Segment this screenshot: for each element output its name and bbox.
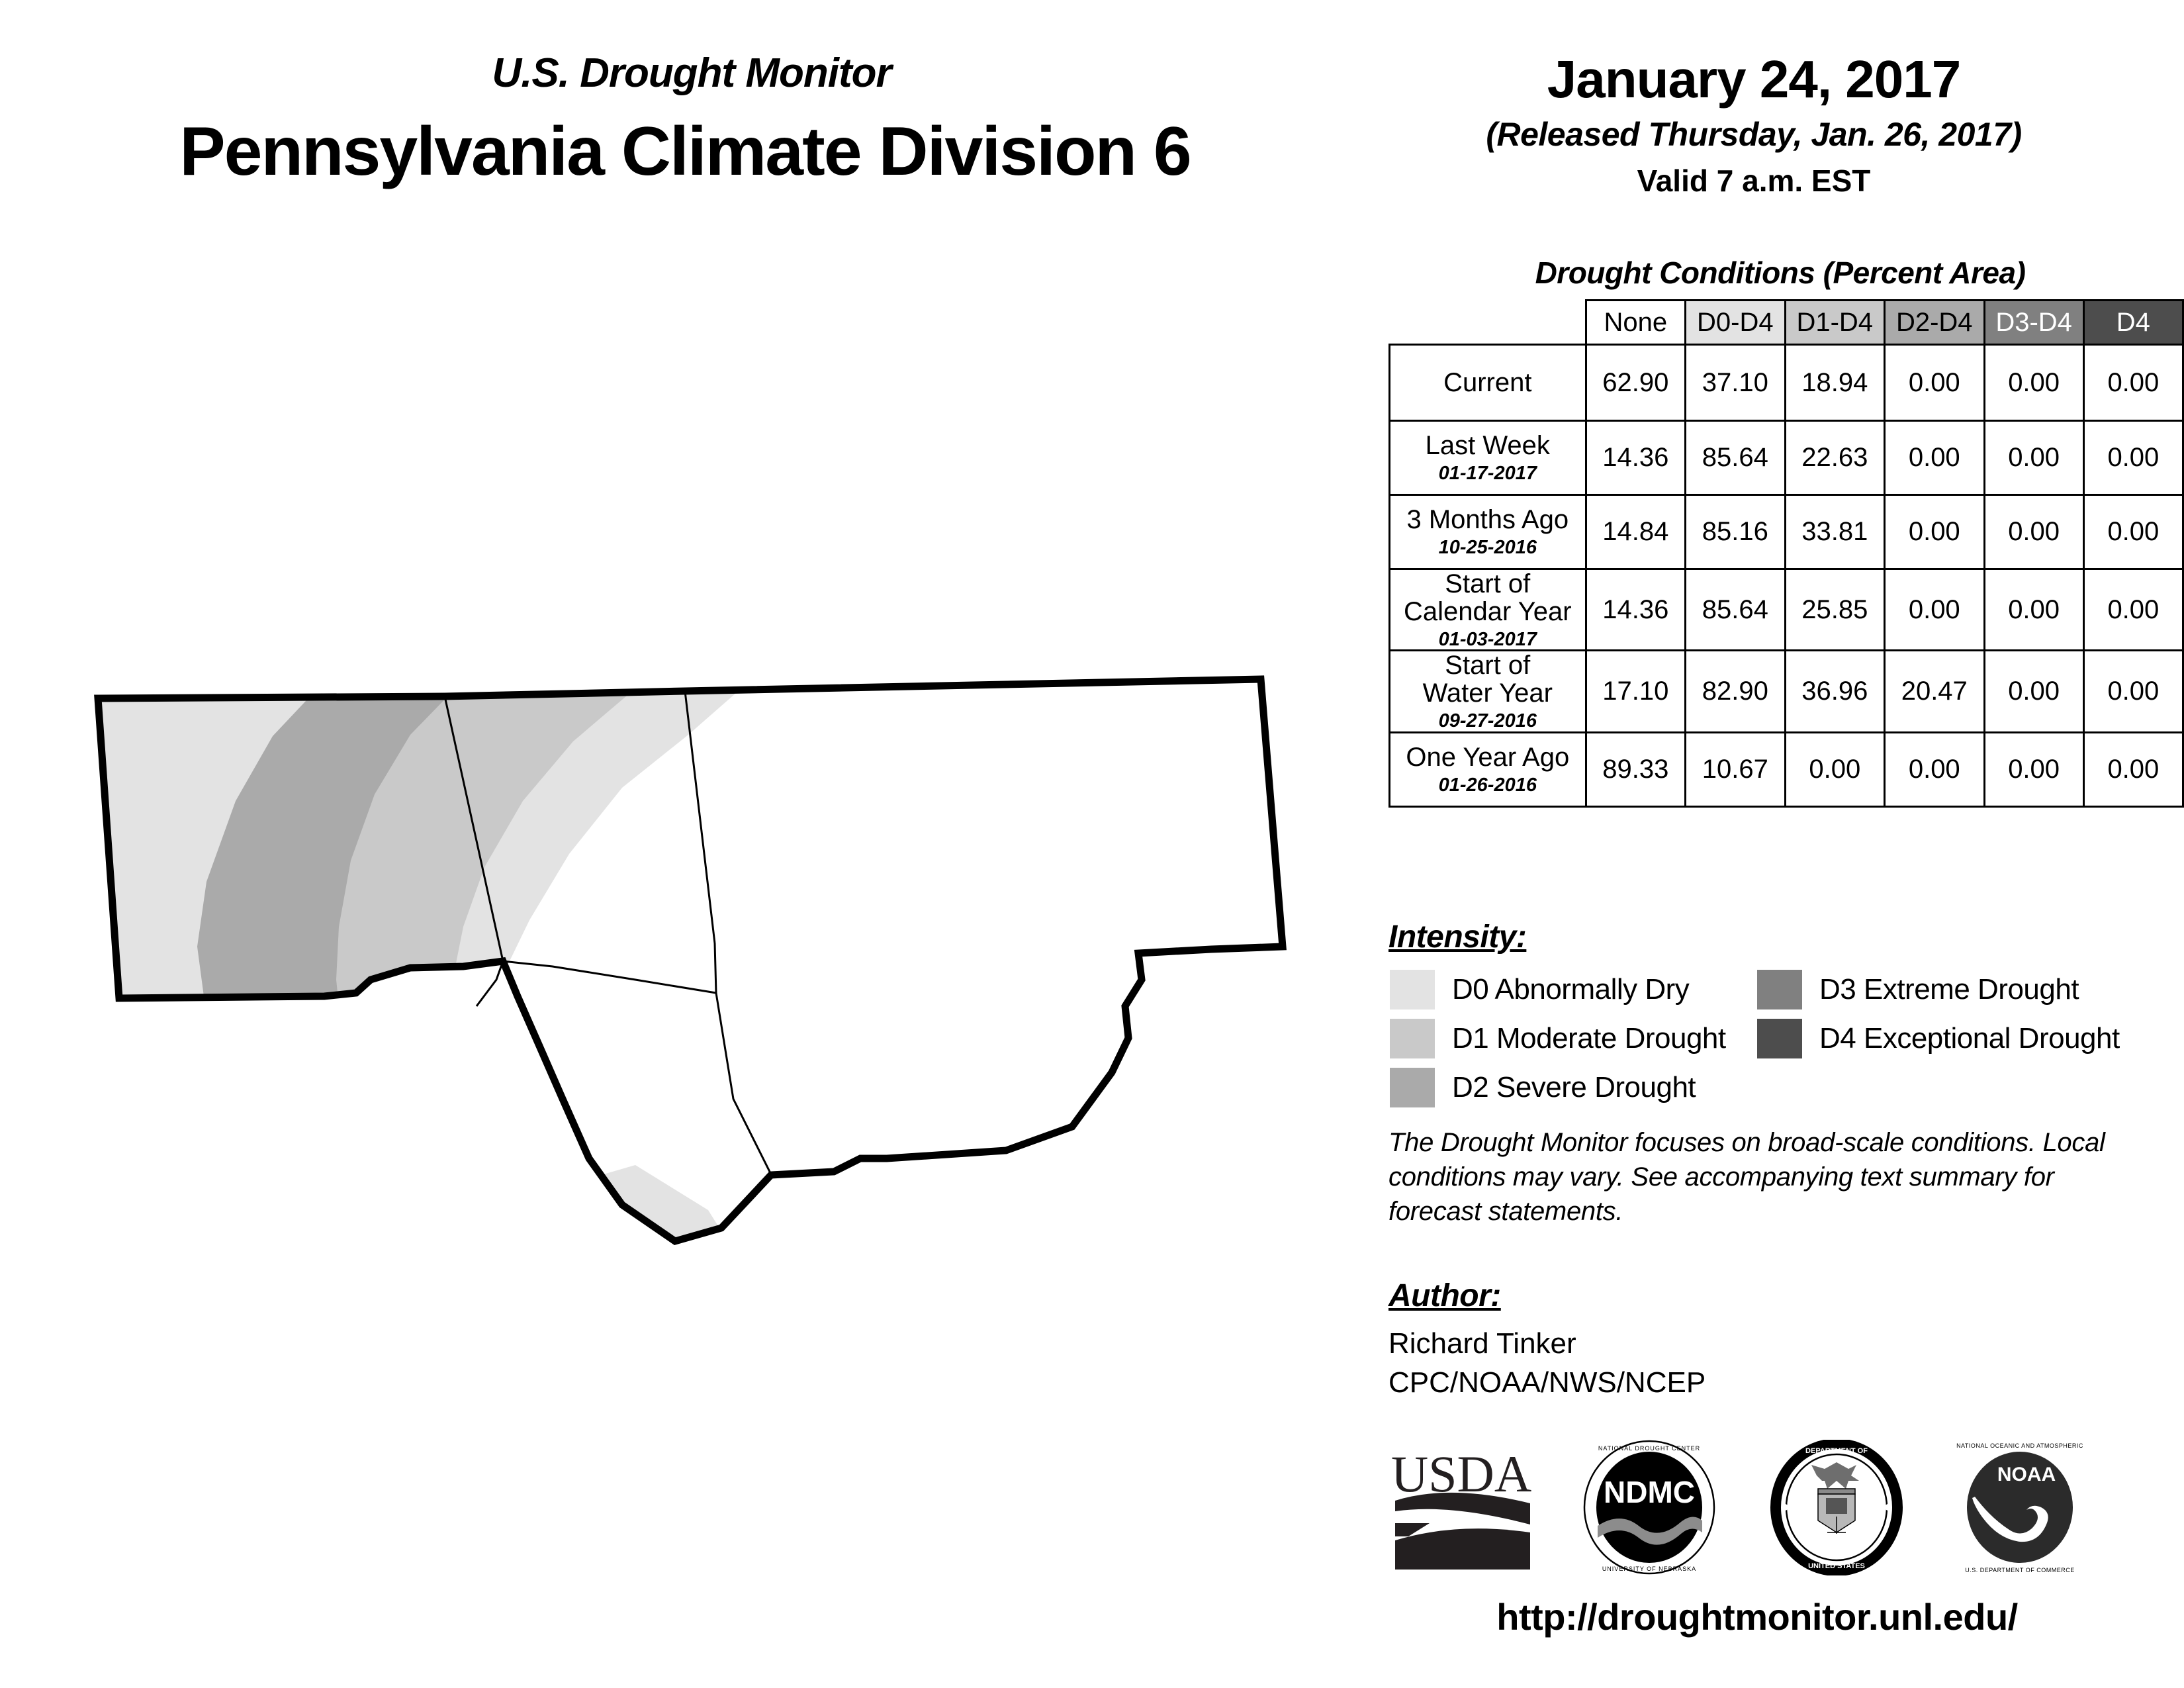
drought-map[interactable] xyxy=(40,635,1350,1271)
drought-monitor-url[interactable]: http://droughtmonitor.unl.edu/ xyxy=(1383,1595,2131,1638)
intensity-legend-title: Intensity: xyxy=(1388,919,1526,955)
table-row: One Year Ago 01-26-2016 89.33 10.67 0.00… xyxy=(1390,732,2183,806)
author-name: Richard Tinker xyxy=(1388,1324,1706,1363)
cell-lastweek-d2d4: 0.00 xyxy=(1885,421,1984,495)
legend-item-d0: D0 Abnormally Dry xyxy=(1390,970,1726,1009)
cell-current-d1d4: 18.94 xyxy=(1785,345,1884,421)
row-label-one-year-ago: One Year Ago 01-26-2016 xyxy=(1390,732,1586,806)
row-label-date: 01-03-2017 xyxy=(1390,630,1585,649)
column-header-d2d4: D2-D4 xyxy=(1885,301,1984,345)
column-header-none: None xyxy=(1586,301,1685,345)
column-header-d1d4: D1-D4 xyxy=(1785,301,1884,345)
cell-3mo-none: 14.84 xyxy=(1586,495,1685,569)
cell-lastweek-none: 14.36 xyxy=(1586,421,1685,495)
legend-label-d0: D0 Abnormally Dry xyxy=(1452,973,1689,1006)
usda-logo: USDA xyxy=(1390,1440,1535,1572)
swatch-d4-icon xyxy=(1757,1019,1802,1058)
table-row: Start of Calendar Year 01-03-2017 14.36 … xyxy=(1390,569,2183,651)
row-label-text: Start of Calendar Year xyxy=(1404,569,1572,626)
cell-1yr-d0d4: 10.67 xyxy=(1686,732,1785,806)
cell-3mo-d2d4: 0.00 xyxy=(1885,495,1984,569)
cell-3mo-d0d4: 85.16 xyxy=(1686,495,1785,569)
cell-caly-d1d4: 25.85 xyxy=(1785,569,1884,651)
table-caption: Drought Conditions (Percent Area) xyxy=(1449,255,2111,291)
legend-item-d1: D1 Moderate Drought xyxy=(1390,1019,1726,1058)
svg-text:UNITED STATES: UNITED STATES xyxy=(1808,1562,1865,1570)
legend-item-d3: D3 Extreme Drought xyxy=(1757,970,2120,1009)
row-label-date: 10-25-2016 xyxy=(1390,538,1585,557)
cell-wy-d2d4: 20.47 xyxy=(1885,651,1984,732)
department-of-commerce-seal-icon: DEPARTMENT OF UNITED STATES xyxy=(1770,1440,1903,1575)
svg-text:NATIONAL DROUGHT CENTER: NATIONAL DROUGHT CENTER xyxy=(1598,1445,1700,1452)
row-label-last-week: Last Week 01-17-2017 xyxy=(1390,421,1586,495)
cell-3mo-d4: 0.00 xyxy=(2083,495,2183,569)
cell-1yr-d2d4: 0.00 xyxy=(1885,732,1984,806)
ndmc-logo: NDMC NATIONAL DROUGHT CENTER UNIVERSITY … xyxy=(1582,1440,1717,1575)
cell-caly-d3d4: 0.00 xyxy=(1984,569,2083,651)
column-header-d4: D4 xyxy=(2083,301,2183,345)
table-row: Last Week 01-17-2017 14.36 85.64 22.63 0… xyxy=(1390,421,2183,495)
swatch-d2-icon xyxy=(1390,1068,1435,1107)
cell-caly-none: 14.36 xyxy=(1586,569,1685,651)
table-row: 3 Months Ago 10-25-2016 14.84 85.16 33.8… xyxy=(1390,495,2183,569)
legend-label-d4: D4 Exceptional Drought xyxy=(1819,1022,2120,1055)
intensity-legend-column-left: D0 Abnormally Dry D1 Moderate Drought D2… xyxy=(1390,970,1726,1107)
row-label-date: 01-26-2016 xyxy=(1390,775,1585,795)
row-label-text: Start of Water Year xyxy=(1423,651,1553,708)
row-label-text: Last Week xyxy=(1426,431,1550,460)
cell-lastweek-d1d4: 22.63 xyxy=(1785,421,1884,495)
swatch-d3-icon xyxy=(1757,970,1802,1009)
row-label-text: 3 Months Ago xyxy=(1406,505,1569,534)
cell-caly-d4: 0.00 xyxy=(2083,569,2183,651)
cell-1yr-d1d4: 0.00 xyxy=(1785,732,1884,806)
valid-date: January 24, 2017 xyxy=(1423,53,2085,106)
valid-time: Valid 7 a.m. EST xyxy=(1423,163,2085,199)
cell-lastweek-d0d4: 85.64 xyxy=(1686,421,1785,495)
cell-wy-d3d4: 0.00 xyxy=(1984,651,2083,732)
intensity-legend-column-right: D3 Extreme Drought D4 Exceptional Drough… xyxy=(1757,970,2120,1058)
svg-text:UNIVERSITY OF NEBRASKA: UNIVERSITY OF NEBRASKA xyxy=(1602,1566,1696,1572)
drought-monitor-subtitle: U.S. Drought Monitor xyxy=(0,50,1383,97)
cell-1yr-d4: 0.00 xyxy=(2083,732,2183,806)
date-block: January 24, 2017 (Released Thursday, Jan… xyxy=(1423,53,2085,199)
row-label-date: 01-17-2017 xyxy=(1390,463,1585,483)
author-heading: Author: xyxy=(1388,1278,1501,1314)
row-label-text: Current xyxy=(1443,368,1531,397)
legend-label-d3: D3 Extreme Drought xyxy=(1819,973,2079,1006)
cell-current-d2d4: 0.00 xyxy=(1885,345,1984,421)
table-row: Start of Water Year 09-27-2016 17.10 82.… xyxy=(1390,651,2183,732)
author-block: Richard Tinker CPC/NOAA/NWS/NCEP xyxy=(1388,1324,1706,1403)
cell-current-none: 62.90 xyxy=(1586,345,1685,421)
cell-1yr-none: 89.33 xyxy=(1586,732,1685,806)
page-title: Pennsylvania Climate Division 6 xyxy=(0,113,1370,191)
cell-caly-d0d4: 85.64 xyxy=(1686,569,1785,651)
cell-lastweek-d3d4: 0.00 xyxy=(1984,421,2083,495)
column-header-d3d4: D3-D4 xyxy=(1984,301,2083,345)
row-label-text: One Year Ago xyxy=(1406,743,1569,772)
cell-wy-d4: 0.00 xyxy=(2083,651,2183,732)
swatch-d0-icon xyxy=(1390,970,1435,1009)
cell-current-d0d4: 37.10 xyxy=(1686,345,1785,421)
drought-conditions-table: None D0-D4 D1-D4 D2-D4 D3-D4 D4 Current … xyxy=(1388,299,2184,808)
svg-text:NOAA: NOAA xyxy=(1997,1464,2056,1485)
svg-text:DEPARTMENT OF: DEPARTMENT OF xyxy=(1805,1447,1868,1455)
row-label-3-months-ago: 3 Months Ago 10-25-2016 xyxy=(1390,495,1586,569)
row-label-start-of-water-year: Start of Water Year 09-27-2016 xyxy=(1390,651,1586,732)
logo-row: USDA NDMC NATIONAL DROUGHT CENTER UNIVER… xyxy=(1383,1440,2124,1582)
cell-caly-d2d4: 0.00 xyxy=(1885,569,1984,651)
cell-lastweek-d4: 0.00 xyxy=(2083,421,2183,495)
row-label-current: Current xyxy=(1390,345,1586,421)
table-row: Current 62.90 37.10 18.94 0.00 0.00 0.00 xyxy=(1390,345,2183,421)
row-label-start-of-calendar-year: Start of Calendar Year 01-03-2017 xyxy=(1390,569,1586,651)
column-header-d0d4: D0-D4 xyxy=(1686,301,1785,345)
cell-wy-d1d4: 36.96 xyxy=(1785,651,1884,732)
legend-label-d2: D2 Severe Drought xyxy=(1452,1071,1696,1104)
table-corner-cell xyxy=(1390,301,1586,345)
author-affiliation: CPC/NOAA/NWS/NCEP xyxy=(1388,1363,1706,1402)
cell-current-d4: 0.00 xyxy=(2083,345,2183,421)
table-header-row: None D0-D4 D1-D4 D2-D4 D3-D4 D4 xyxy=(1390,301,2183,345)
cell-wy-d0d4: 82.90 xyxy=(1686,651,1785,732)
svg-text:NATIONAL OCEANIC AND ATMOSPHER: NATIONAL OCEANIC AND ATMOSPHERIC xyxy=(1956,1442,2083,1449)
legend-item-d2: D2 Severe Drought xyxy=(1390,1068,1726,1107)
row-label-date: 09-27-2016 xyxy=(1390,711,1585,731)
swatch-d1-icon xyxy=(1390,1019,1435,1058)
release-date: (Released Thursday, Jan. 26, 2017) xyxy=(1423,115,2085,154)
cell-wy-none: 17.10 xyxy=(1586,651,1685,732)
noaa-logo: NOAA NATIONAL OCEANIC AND ATMOSPHERIC U.… xyxy=(1952,1440,2088,1575)
legend-label-d1: D1 Moderate Drought xyxy=(1452,1022,1726,1055)
legend-item-d4: D4 Exceptional Drought xyxy=(1757,1019,2120,1058)
cell-3mo-d1d4: 33.81 xyxy=(1785,495,1884,569)
disclaimer-text: The Drought Monitor focuses on broad-sca… xyxy=(1388,1125,2130,1229)
cell-3mo-d3d4: 0.00 xyxy=(1984,495,2083,569)
svg-text:U.S. DEPARTMENT OF COMMERCE: U.S. DEPARTMENT OF COMMERCE xyxy=(1965,1567,2075,1573)
cell-1yr-d3d4: 0.00 xyxy=(1984,732,2083,806)
cell-current-d3d4: 0.00 xyxy=(1984,345,2083,421)
svg-text:NDMC: NDMC xyxy=(1604,1475,1695,1509)
